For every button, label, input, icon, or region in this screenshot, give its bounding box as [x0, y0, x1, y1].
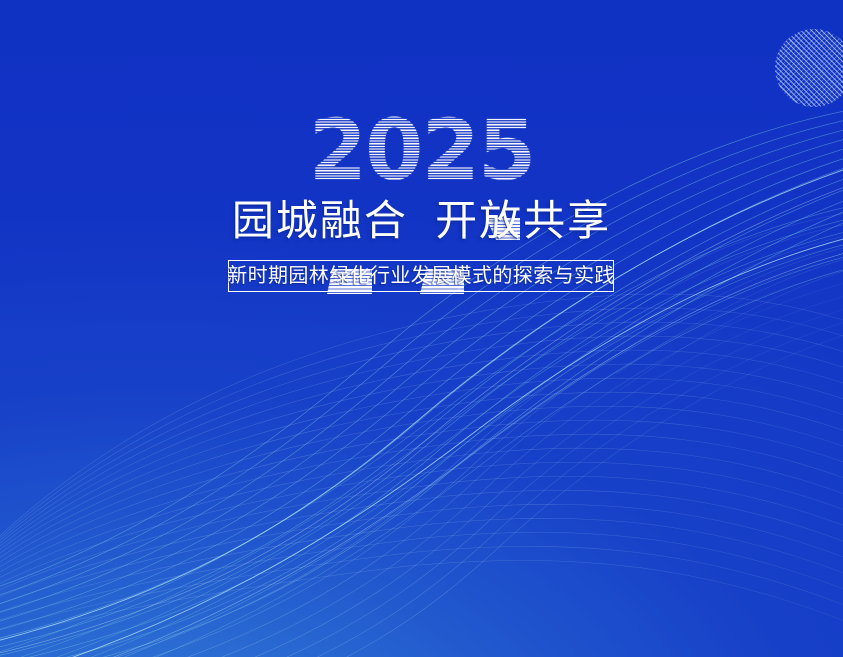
- poster-headline: 园城融合 开放共享: [0, 196, 843, 246]
- poster-slide: 2025 园城融合 开放共享 新时期园林绿化行业发展模式的探索与实践: [0, 0, 843, 657]
- year-block: 2025: [0, 106, 843, 194]
- subtitle-frame: 新时期园林绿化行业发展模式的探索与实践: [228, 260, 614, 292]
- poster-content: 2025 园城融合 开放共享 新时期园林绿化行业发展模式的探索与实践: [0, 0, 843, 657]
- year-text: 2025: [309, 108, 535, 192]
- poster-subtitle: 新时期园林绿化行业发展模式的探索与实践: [227, 266, 615, 286]
